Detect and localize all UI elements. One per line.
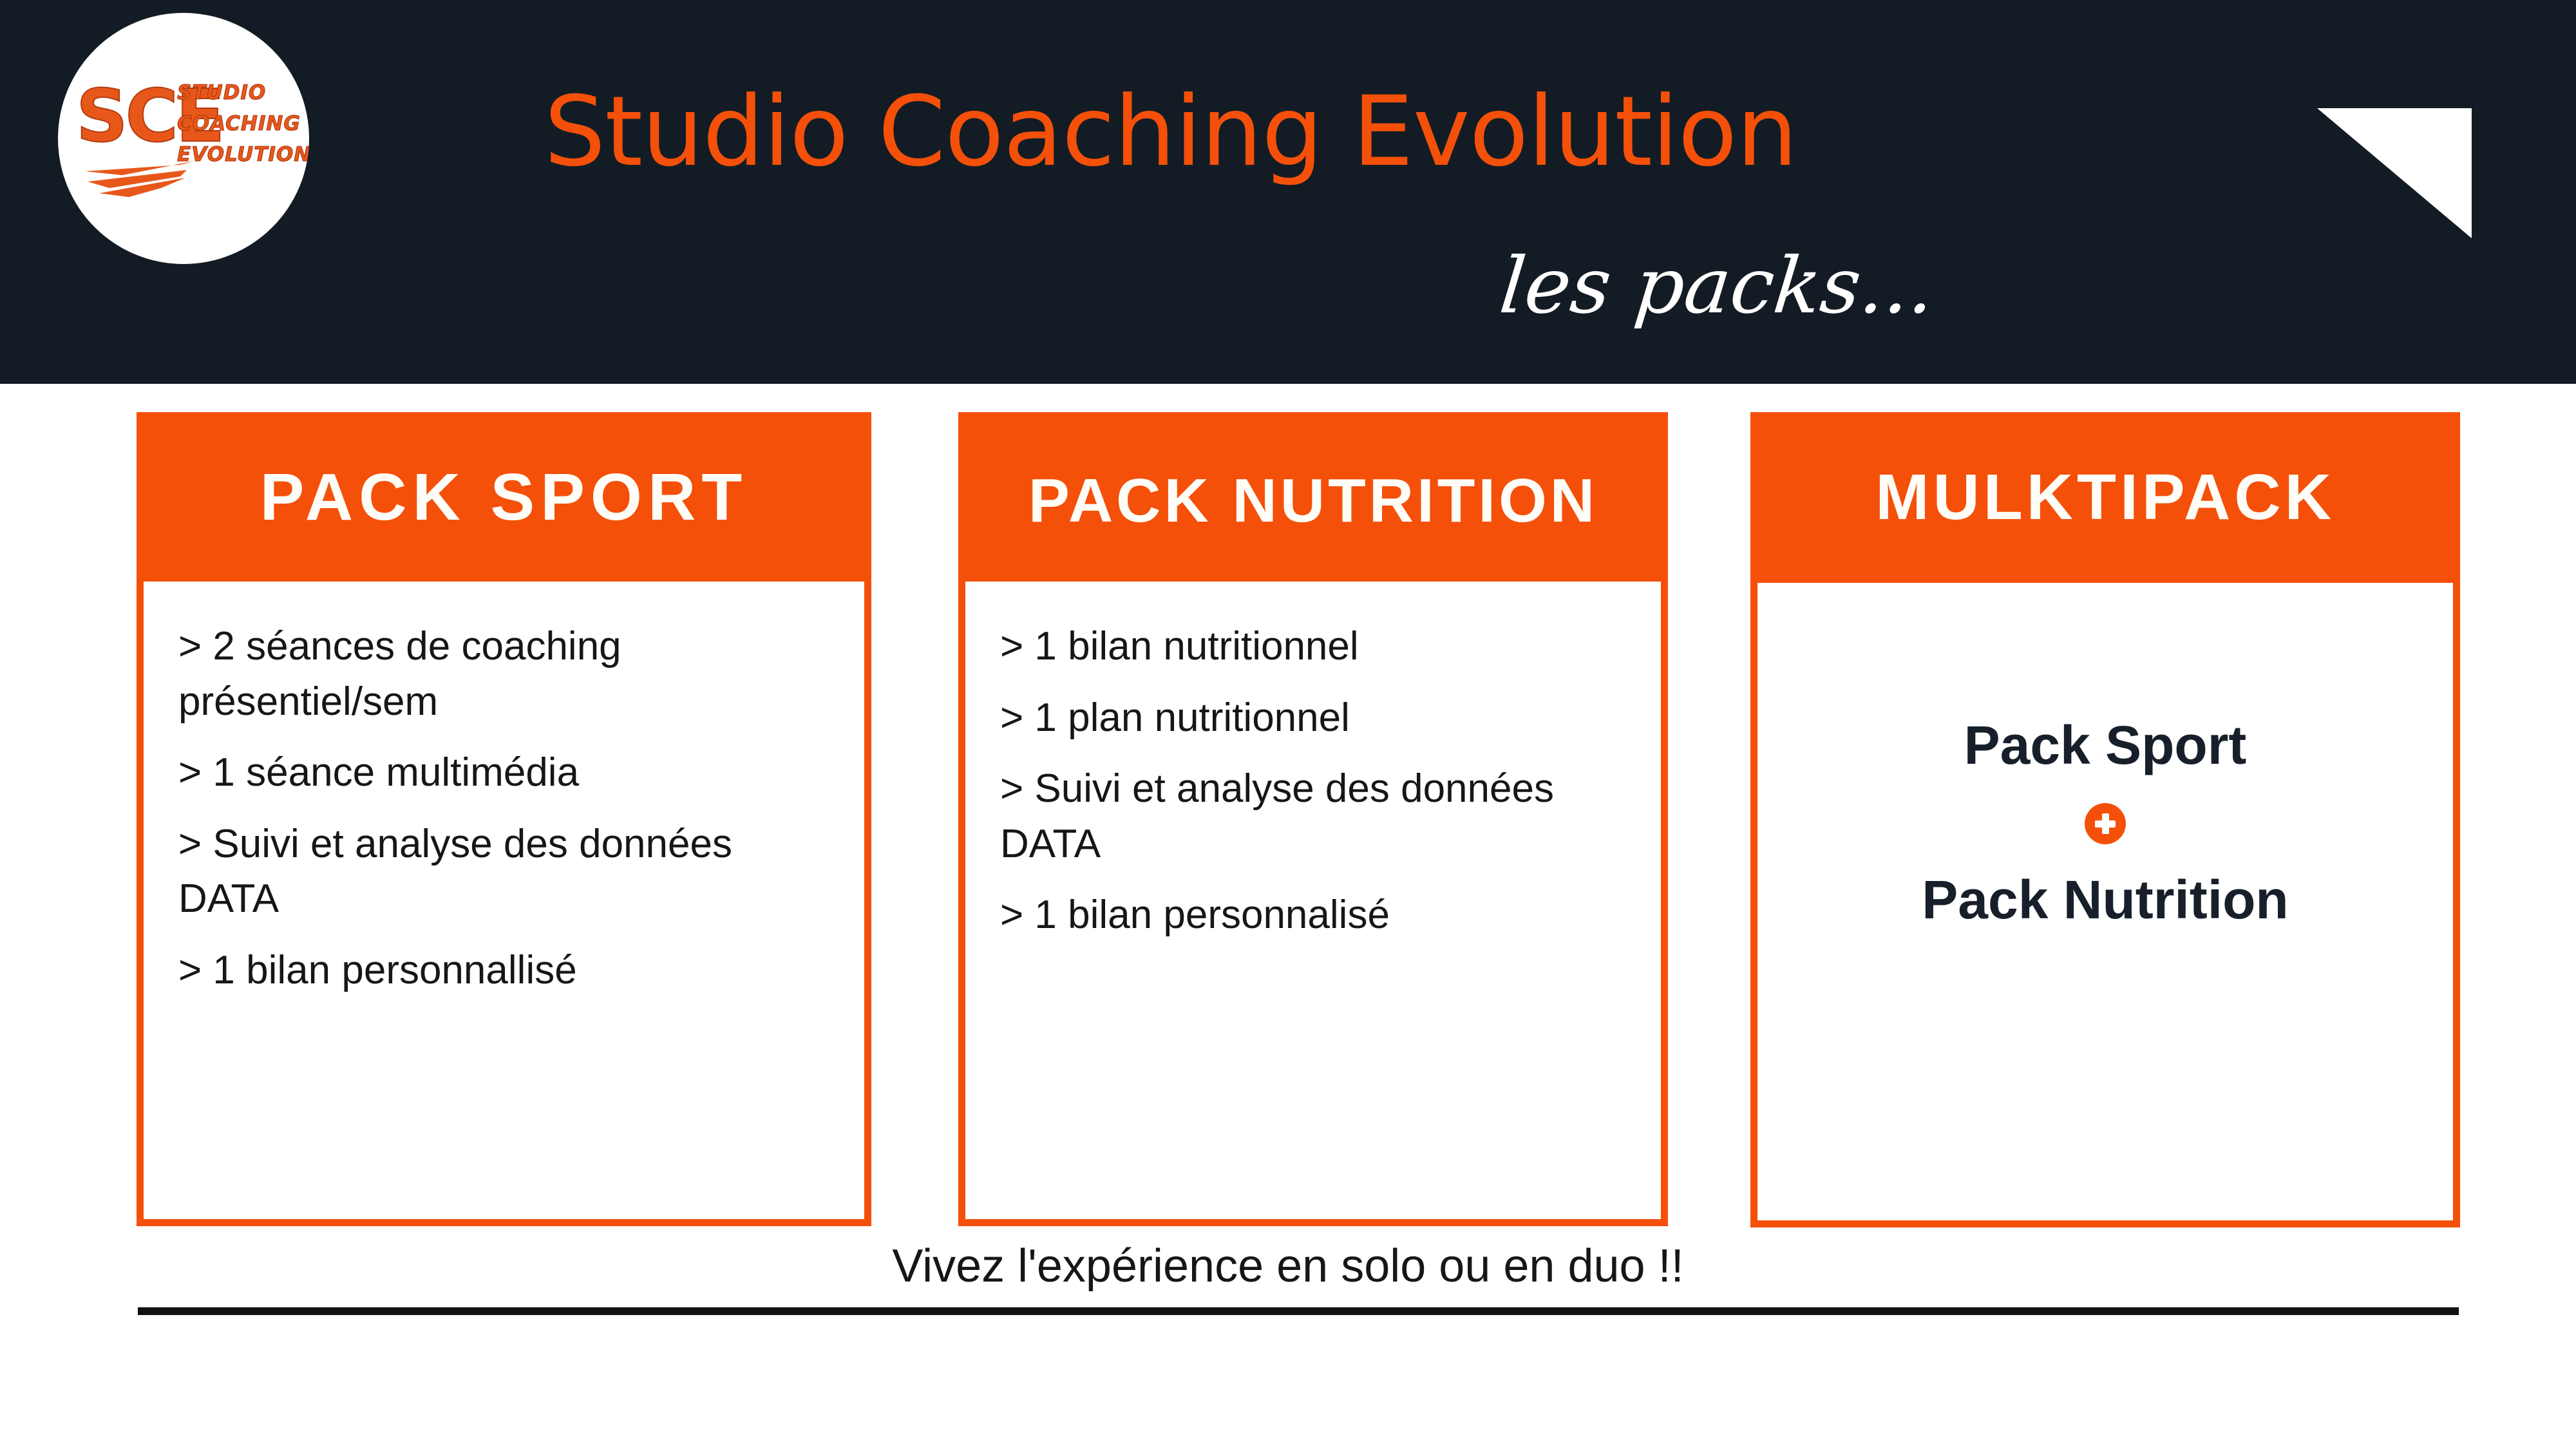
logo-word-coaching: COACHING xyxy=(177,108,299,139)
list-item: > Suivi et analyse des données DATA xyxy=(178,817,829,927)
list-item: > 1 séance multimédia xyxy=(178,745,829,800)
pack-card-title-sport: PACK SPORT xyxy=(260,459,748,535)
list-item: > 1 plan nutritionnel xyxy=(1000,690,1626,746)
feature-list-sport: > 2 séances de coaching présentiel/sem >… xyxy=(178,619,829,998)
pack-card-header-sport: PACK SPORT xyxy=(137,412,871,582)
list-item: > 1 bilan nutritionnel xyxy=(1000,619,1626,674)
pack-card-nutrition[interactable]: PACK NUTRITION > 1 bilan nutritionnel > … xyxy=(958,412,1668,1226)
logo-word-studio: STUDIO xyxy=(177,77,299,108)
pack-card-body-nutrition: > 1 bilan nutritionnel > 1 plan nutritio… xyxy=(958,582,1668,1226)
footer: Vivez l'expérience en solo ou en duo !! xyxy=(0,1243,2576,1359)
footer-tagline: Vivez l'expérience en solo ou en duo !! xyxy=(0,1243,2576,1289)
pack-card-sport[interactable]: PACK SPORT > 2 séances de coaching prése… xyxy=(137,412,871,1226)
brand-logo: SCE STUDIO COACHING EVOLUTION xyxy=(58,13,309,264)
page-subtitle: les packs... xyxy=(1497,248,1938,325)
footer-divider xyxy=(138,1307,2459,1315)
pack-card-title-multipack: MULKTIPACK xyxy=(1875,460,2335,535)
packs-card-row: PACK SPORT > 2 séances de coaching prése… xyxy=(0,384,2576,1260)
packs-poster: SCE STUDIO COACHING EVOLUTION Studio Coa… xyxy=(0,0,2576,1449)
page-title: Studio Coaching Evolution xyxy=(544,84,1797,180)
pack-card-header-nutrition: PACK NUTRITION xyxy=(958,412,1668,582)
pack-card-header-multipack: MULKTIPACK xyxy=(1750,412,2460,583)
list-item: > 1 bilan personnalisé xyxy=(1000,887,1626,943)
combo-second-pack: Pack Nutrition xyxy=(1922,873,2288,927)
pack-card-body-multipack: Pack Sport Pack Nutrition xyxy=(1750,583,2460,1227)
combo-first-pack: Pack Sport xyxy=(1964,718,2247,772)
logo-wordmark: STUDIO COACHING EVOLUTION xyxy=(177,77,299,170)
triangle-decoration-icon xyxy=(2317,108,2472,238)
logo-inner: SCE STUDIO COACHING EVOLUTION xyxy=(58,13,309,264)
pack-card-title-nutrition: PACK NUTRITION xyxy=(1028,458,1598,536)
list-item: > 1 bilan personnallisé xyxy=(178,943,829,998)
pack-card-multipack[interactable]: MULKTIPACK Pack Sport Pack Nutrition xyxy=(1750,412,2460,1227)
list-item: > Suivi et analyse des données DATA xyxy=(1000,761,1626,871)
header-band: SCE STUDIO COACHING EVOLUTION Studio Coa… xyxy=(0,0,2576,384)
plus-circle-icon xyxy=(2085,803,2126,844)
sce-logo-waves-icon xyxy=(84,160,196,198)
combo-content: Pack Sport Pack Nutrition xyxy=(1757,583,2453,1220)
pack-card-body-sport: > 2 séances de coaching présentiel/sem >… xyxy=(137,582,871,1226)
list-item: > 2 séances de coaching présentiel/sem xyxy=(178,619,829,729)
feature-list-nutrition: > 1 bilan nutritionnel > 1 plan nutritio… xyxy=(1000,619,1626,943)
